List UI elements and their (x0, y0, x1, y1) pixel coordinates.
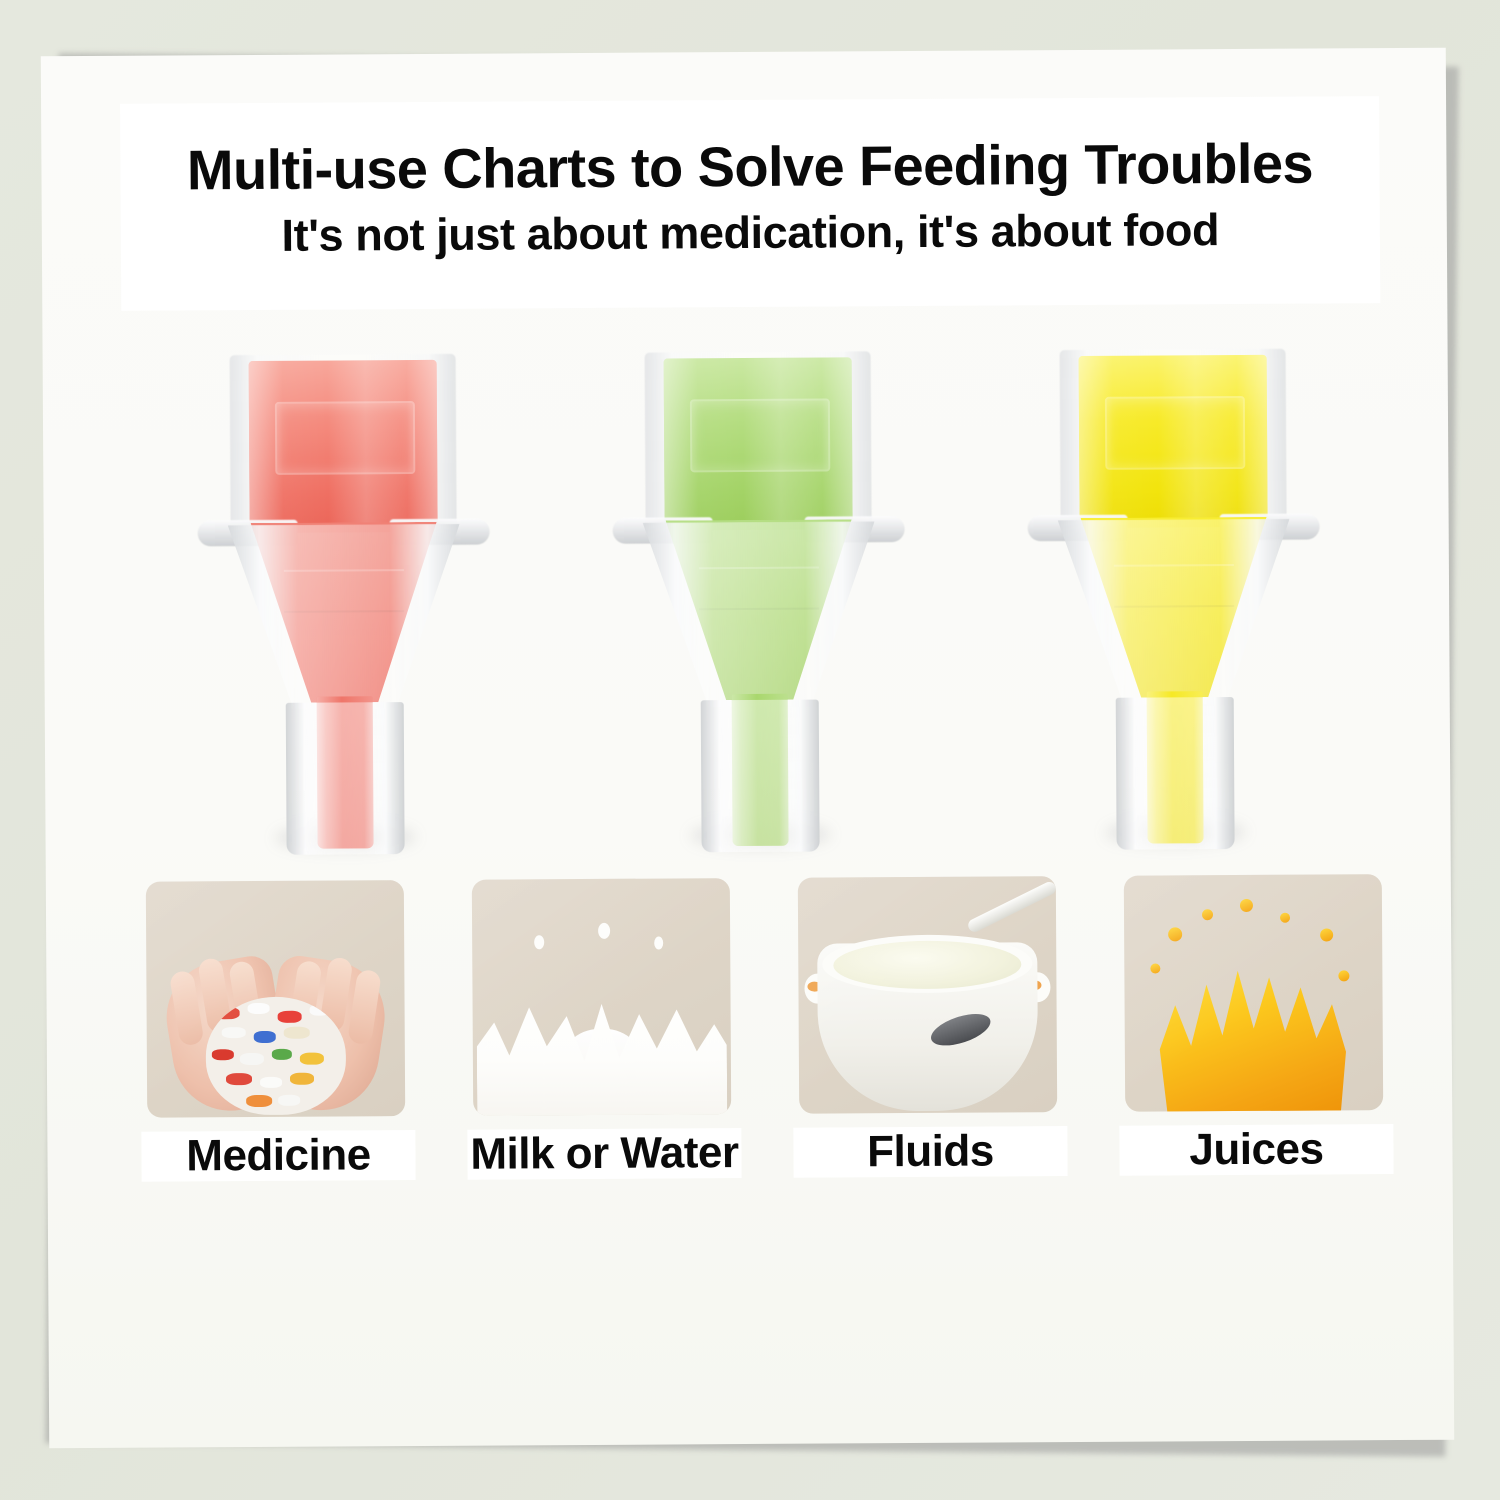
dispenser-yellow (1023, 348, 1326, 860)
milk-tile (472, 878, 731, 1116)
use-case-tiles: Medicine Milk or Water (146, 874, 1388, 1182)
pill-pile (206, 996, 347, 1115)
use-case-medicine: Medicine (146, 880, 410, 1182)
use-case-juices: Juices (1124, 874, 1388, 1176)
plunger-gloss (664, 357, 853, 530)
use-case-milk-or-water: Milk or Water (472, 878, 736, 1180)
funnel-body (1058, 519, 1291, 705)
use-case-fluids: Fluids (798, 876, 1062, 1178)
use-case-label: Milk or Water (467, 1128, 741, 1180)
dispenser-coral (193, 354, 496, 866)
juices-tile (1124, 874, 1383, 1112)
use-case-label: Medicine (141, 1130, 415, 1182)
stem-gloss (732, 694, 789, 846)
pills-in-hands-icon (171, 938, 380, 1117)
milk-splash-icon (472, 878, 730, 880)
fluids-tile (798, 876, 1057, 1114)
plunger-gloss (1079, 355, 1268, 528)
page-title: Multi-use Charts to Solve Feeding Troubl… (120, 130, 1379, 203)
funnel-body (228, 524, 461, 710)
product-image-row (193, 348, 1326, 875)
page-subtitle: It's not just about medication, it's abo… (121, 203, 1380, 263)
juice-splash-icon (1124, 874, 1382, 876)
stem-gloss (317, 696, 374, 848)
plunger-gloss (249, 360, 438, 533)
medicine-tile (146, 880, 405, 1118)
headline-panel: Multi-use Charts to Solve Feeding Troubl… (120, 96, 1380, 311)
product-info-card: Multi-use Charts to Solve Feeding Troubl… (41, 48, 1454, 1449)
yogurt-bowl-icon (798, 876, 1057, 1114)
stem-gloss (1147, 691, 1204, 843)
funnel-body (643, 521, 876, 707)
use-case-label: Juices (1119, 1124, 1393, 1176)
dispenser-green (608, 351, 911, 863)
use-case-label: Fluids (793, 1126, 1067, 1178)
